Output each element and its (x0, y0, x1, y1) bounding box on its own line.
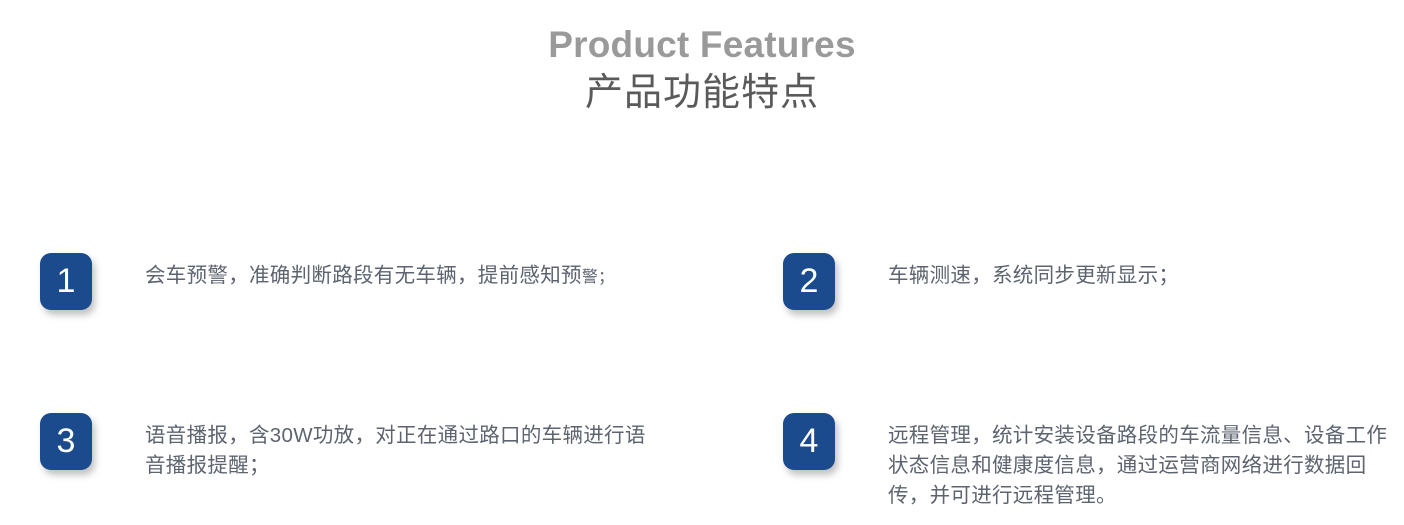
feature-description-1-tail: 警； (582, 269, 615, 286)
feature-description-3: 语音播报，含30W功放，对正在通过路口的车辆进行语音播报提醒； (145, 421, 657, 481)
feature-description-2: 车辆测速，系统同步更新显示； (888, 261, 1400, 291)
feature-description-1: 会车预警，准确判断路段有无车辆，提前感知预警； (145, 261, 657, 291)
feature-number-badge-2: 2 (783, 253, 835, 310)
feature-number-badge-4: 4 (783, 413, 835, 470)
feature-number-badge-3: 3 (40, 413, 92, 470)
product-features-grid: 1 会车预警，准确判断路段有无车辆，提前感知预警； 2 车辆测速，系统同步更新显… (0, 0, 1404, 525)
feature-description-1-main: 会车预警，准确判断路段有无车辆，提前感知预 (145, 264, 582, 287)
feature-number-badge-1: 1 (40, 253, 92, 310)
feature-description-4: 远程管理，统计安装设备路段的车流量信息、设备工作状态信息和健康度信息，通过运营商… (888, 421, 1400, 511)
